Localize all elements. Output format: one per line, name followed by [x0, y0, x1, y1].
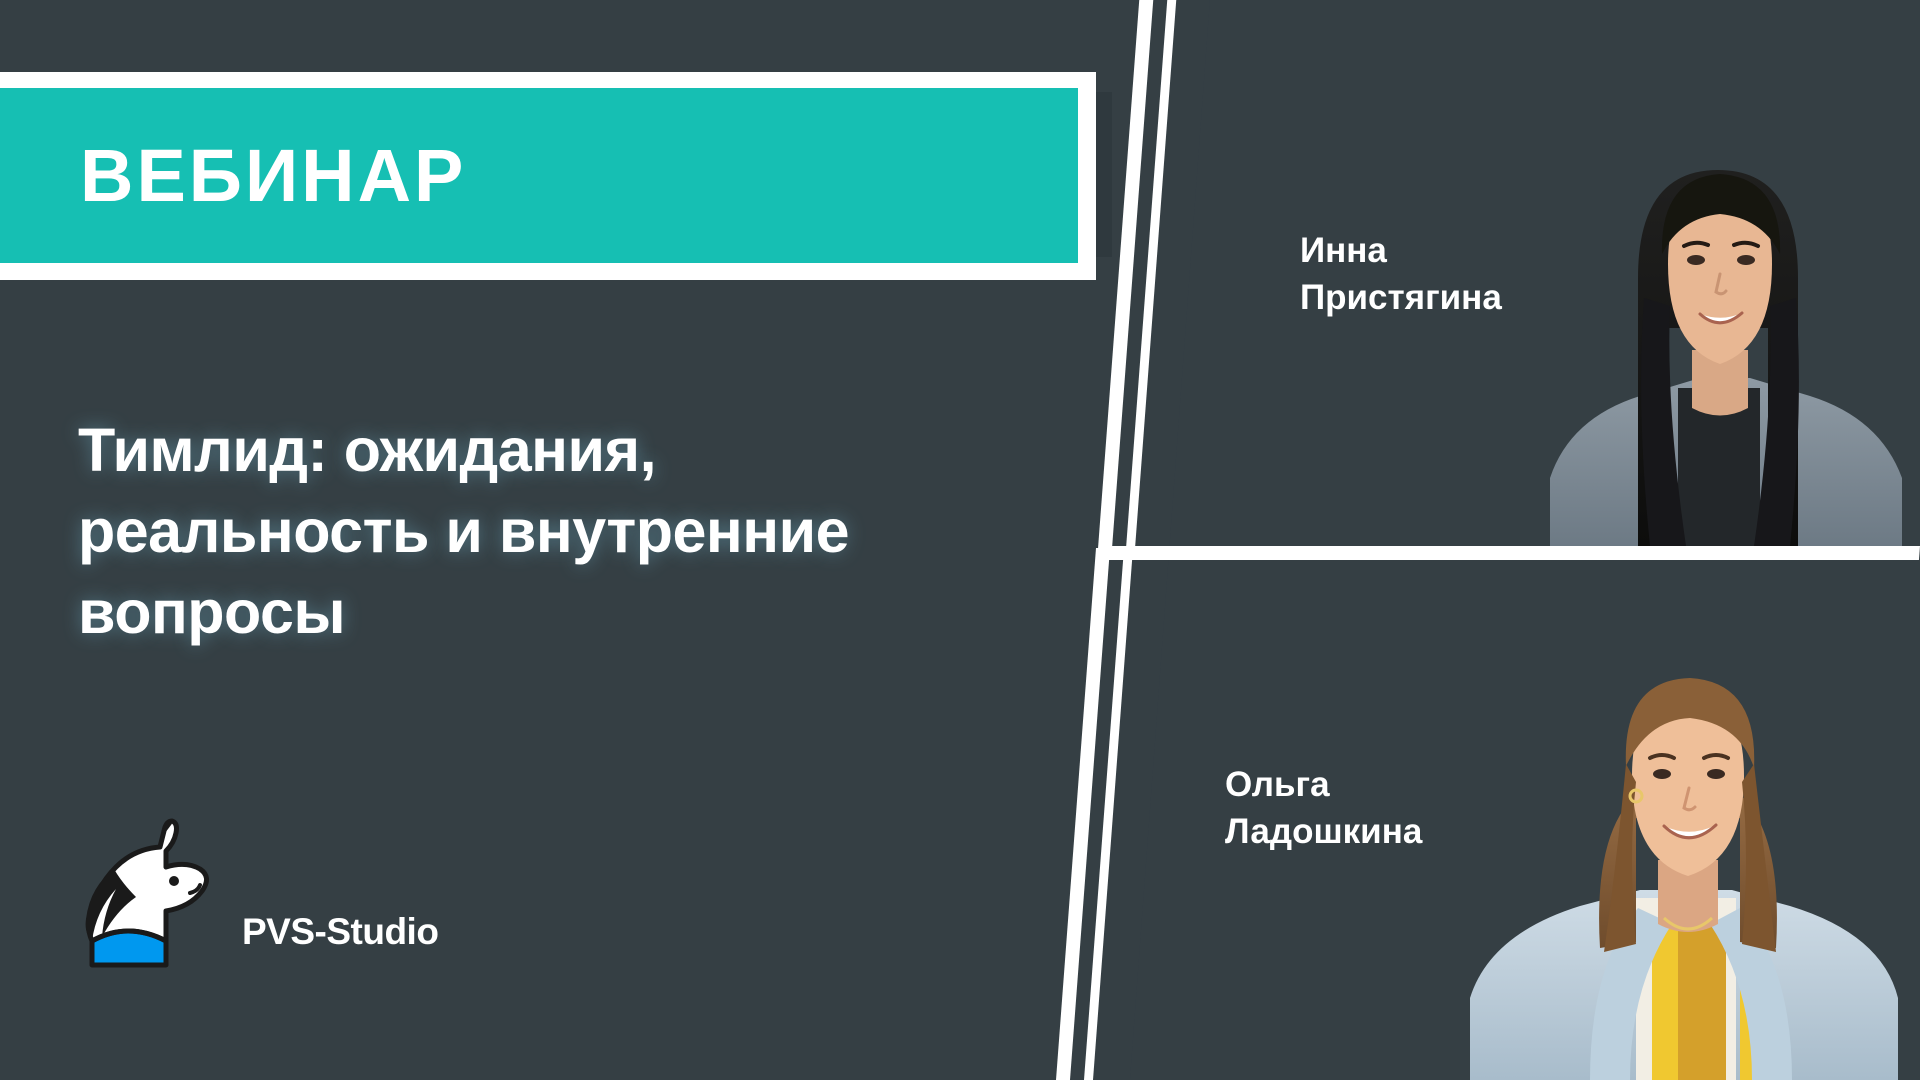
pvs-studio-logo: PVS-Studio — [70, 815, 438, 975]
title-line-3: вопросы — [78, 572, 1098, 653]
speaker-photo-inna — [1510, 78, 1920, 546]
badge-fill: ВЕБИНАР — [0, 88, 1078, 263]
speaker-photo-olga — [1440, 568, 1920, 1080]
webinar-badge: ВЕБИНАР — [0, 72, 1116, 262]
badge-label: ВЕБИНАР — [0, 139, 466, 213]
panel-divider — [1109, 546, 1920, 560]
page-title: Тимлид: ожидания, реальность и внутренни… — [78, 410, 1098, 653]
pvs-studio-wordmark: PVS-Studio — [242, 911, 438, 975]
speaker-name-olga: Ольга Ладошкина — [1225, 762, 1422, 856]
title-line-1: Тимлид: ожидания, — [78, 410, 1098, 491]
pvs-studio-unicorn-icon — [70, 815, 230, 975]
title-line-2: реальность и внутренние — [78, 491, 1098, 572]
speaker-name-inna: Инна Пристягина — [1300, 228, 1502, 322]
badge-frame: ВЕБИНАР — [0, 72, 1096, 280]
